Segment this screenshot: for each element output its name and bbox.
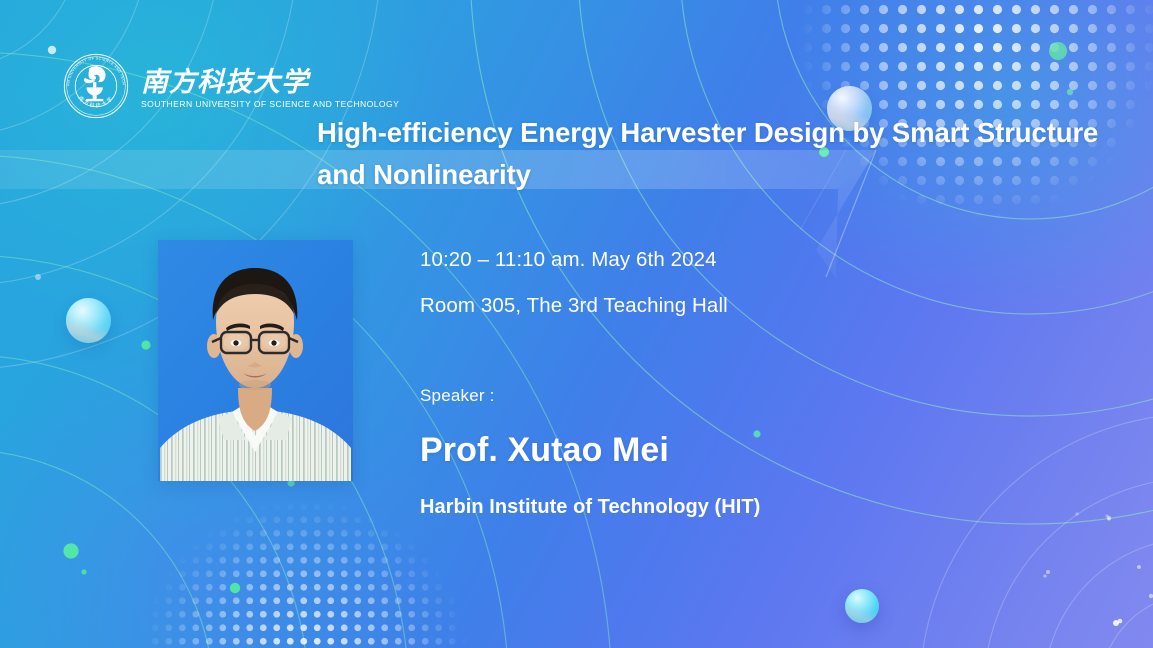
sphere-shading (66, 298, 111, 343)
decorative-sphere-bottom (845, 589, 879, 623)
wordmark-english: SOUTHERN UNIVERSITY OF SCIENCE AND TECHN… (141, 99, 399, 109)
university-logo: SOUTHERN UNIVERSITY OF SCIENCE AND TECHN… (62, 52, 399, 120)
arc-dots-bottom-right (1043, 512, 1153, 626)
sphere-shading (845, 589, 879, 623)
speaker-affiliation: Harbin Institute of Technology (HIT) (420, 496, 1040, 519)
university-emblem-icon: SOUTHERN UNIVERSITY OF SCIENCE AND TECHN… (62, 52, 130, 120)
halftone-dots-bottom (140, 500, 470, 648)
event-info-block: 10:20 – 11:10 am. May 6th 2024 Room 305,… (420, 248, 1040, 519)
decorative-sphere-left (66, 298, 111, 343)
emblem-torch-glyph (84, 66, 106, 101)
speaker-label: Speaker : (420, 386, 1040, 406)
event-location: Room 305, The 3rd Teaching Hall (420, 294, 1040, 318)
speaker-name: Prof. Xutao Mei (420, 431, 1040, 470)
event-time: 10:20 – 11:10 am. May 6th 2024 (420, 248, 1040, 272)
arc-dots-top-left (0, 0, 106, 280)
poster-canvas: SOUTHERN UNIVERSITY OF SCIENCE AND TECHN… (0, 0, 1153, 648)
wordmark-chinese: 南方科技大学 (141, 64, 341, 98)
poster-title: High-efficiency Energy Harvester Design … (317, 112, 1137, 196)
portrait-illustration (158, 240, 353, 481)
svg-text:南方科技大学: 南方科技大学 (141, 67, 312, 98)
university-wordmark: 南方科技大学 SOUTHERN UNIVERSITY OF SCIENCE AN… (141, 64, 399, 109)
speaker-portrait-photo (158, 240, 353, 481)
